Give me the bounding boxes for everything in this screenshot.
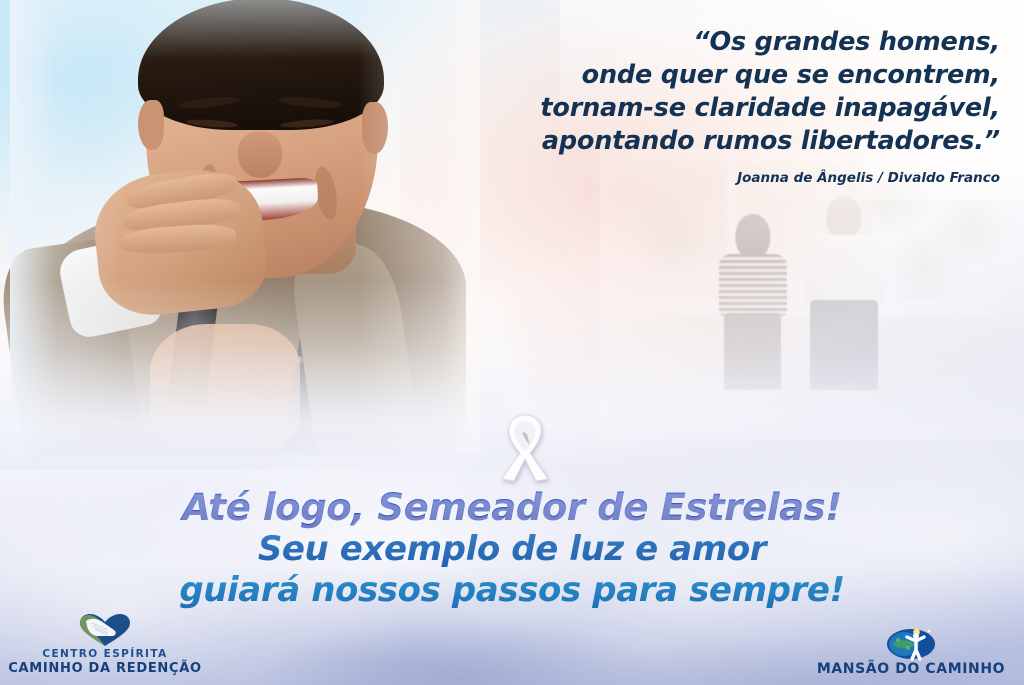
logo-left-line-1: CENTRO ESPÍRITA	[6, 648, 204, 661]
logo-left-line-2: CAMINHO DA REDENÇÃO	[6, 661, 204, 677]
white-ribbon-icon	[489, 409, 561, 487]
logo-right-line-2: MANSÃO DO CAMINHO	[806, 661, 1016, 677]
quote-text: “Os grandes homens, onde quer que se enc…	[452, 26, 1000, 158]
headline-line-3: guiará nossos passos para sempre!	[0, 570, 1024, 611]
quote-line-1: “Os grandes homens,	[452, 26, 1000, 59]
quote-line-2: onde quer que se encontrem,	[452, 59, 1000, 92]
quote-line-4: apontando rumos libertadores.”	[452, 125, 1000, 158]
heart-hands-icon	[6, 612, 204, 648]
headline-line-2: Seu exemplo de luz e amor	[0, 529, 1024, 570]
headline-block: Até logo, Semeador de Estrelas! Seu exem…	[0, 486, 1024, 611]
memorial-poster: “Os grandes homens, onde quer que se enc…	[0, 0, 1024, 685]
globe-figure-icon	[806, 625, 1016, 661]
logo-centro-espirita[interactable]: CENTRO ESPÍRITA CAMINHO DA REDENÇÃO	[6, 612, 204, 677]
quote-attribution: Joanna de Ângelis / Divaldo Franco	[452, 170, 1000, 186]
quote-line-3: tornam-se claridade inapagável,	[452, 92, 1000, 125]
logo-mansao-do-caminho[interactable]: MANSÃO DO CAMINHO	[806, 625, 1016, 677]
headline-line-1: Até logo, Semeador de Estrelas!	[0, 486, 1024, 529]
